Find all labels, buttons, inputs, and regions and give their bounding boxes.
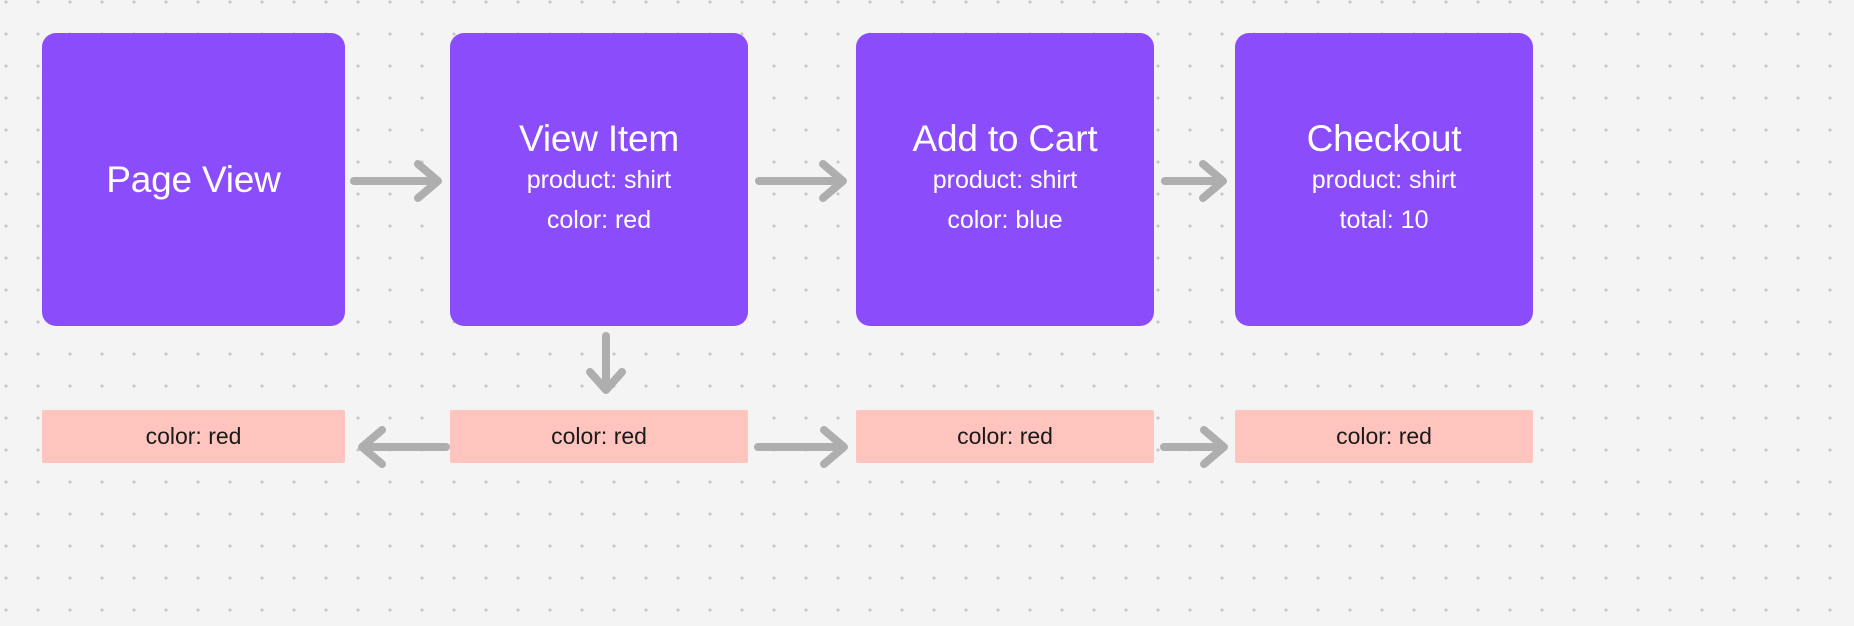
arrow-right-icon: [756, 424, 854, 470]
event-node-title: Add to Cart: [913, 118, 1098, 159]
event-node-property: color: blue: [947, 200, 1062, 241]
property-node[interactable]: color: red: [856, 410, 1154, 463]
event-node-title: Page View: [106, 159, 280, 200]
arrow-right-icon: [352, 158, 448, 204]
event-node-title: Checkout: [1307, 118, 1462, 159]
arrow-down-icon: [583, 334, 629, 400]
event-node-property: product: shirt: [1312, 160, 1457, 201]
property-node-label: color: red: [1336, 423, 1432, 450]
arrow-right-icon: [757, 158, 853, 204]
event-node-view-item[interactable]: View Item product: shirt color: red: [450, 33, 748, 326]
event-node-property: total: 10: [1340, 200, 1429, 241]
event-node-property: product: shirt: [527, 160, 672, 201]
event-node-title: View Item: [519, 118, 679, 159]
property-node-label: color: red: [551, 423, 647, 450]
arrow-right-icon: [1162, 424, 1234, 470]
property-node-label: color: red: [146, 423, 242, 450]
arrow-left-icon: [350, 424, 448, 470]
property-node-label: color: red: [957, 423, 1053, 450]
event-node-property: product: shirt: [933, 160, 1078, 201]
property-node[interactable]: color: red: [42, 410, 345, 463]
arrow-right-icon: [1163, 158, 1233, 204]
event-node-page-view[interactable]: Page View: [42, 33, 345, 326]
event-node-checkout[interactable]: Checkout product: shirt total: 10: [1235, 33, 1533, 326]
property-node[interactable]: color: red: [1235, 410, 1533, 463]
event-node-add-to-cart[interactable]: Add to Cart product: shirt color: blue: [856, 33, 1154, 326]
property-node[interactable]: color: red: [450, 410, 748, 463]
diagram-canvas: Page View View Item product: shirt color…: [0, 0, 1854, 626]
event-node-property: color: red: [547, 200, 651, 241]
